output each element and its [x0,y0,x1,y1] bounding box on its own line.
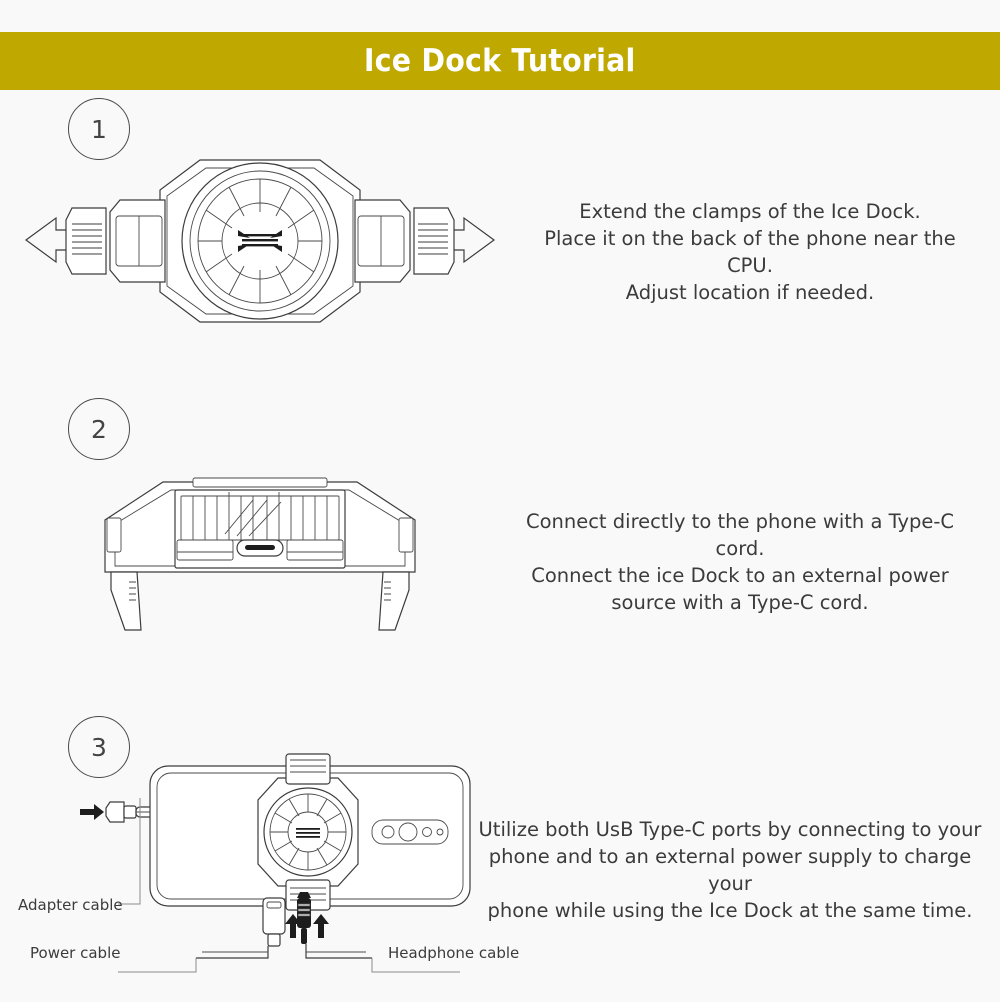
step-3-section: 3 [0,0,1000,320]
headphone-connector [297,892,311,944]
step-2-caption-line-1: Connect directly to the phone with a Typ… [500,508,980,562]
power-cable-leader [118,958,196,972]
step-2-caption-line-2: Connect the ice Dock to an external powe… [500,562,980,589]
phone-camera-flash [437,829,443,835]
power-cable-label: Power cable [30,944,120,962]
step-2-illustration [85,462,435,640]
step-2-number-badge: 2 [68,398,130,460]
dock-lower-shelf-left [177,540,233,560]
adapter-cable-label: Adapter cable [18,896,123,914]
dock-right-leg [379,572,409,630]
step-2-caption: Connect directly to the phone with a Typ… [500,508,980,616]
headphone-cable-run [306,944,372,958]
step-2-caption-line-3: source with a Type-C cord. [500,589,980,616]
phone-camera-lens-1 [382,826,394,838]
headphone-cable-label: Headphone cable [388,944,519,962]
dock-top-lip [193,478,327,487]
power-connector [263,898,285,946]
dock-lower-shelf-right [287,540,343,560]
dock-right-flank [399,518,413,552]
step-3-caption-line-1: Utilize both UsB Type-C ports by connect… [470,816,990,843]
step-2-number: 2 [91,415,107,444]
mounted-dock-upper-clamp [286,754,330,784]
mounted-dock-hub-logo [296,828,320,838]
insert-left-arrow-icon [80,804,104,820]
phone-camera-lens-3 [423,828,432,837]
phone-camera-lens-2 [399,823,417,841]
tutorial-page: Ice Dock Tutorial 1 [0,0,1000,1000]
dock-left-flank [107,518,121,552]
dock-left-leg [111,572,141,630]
